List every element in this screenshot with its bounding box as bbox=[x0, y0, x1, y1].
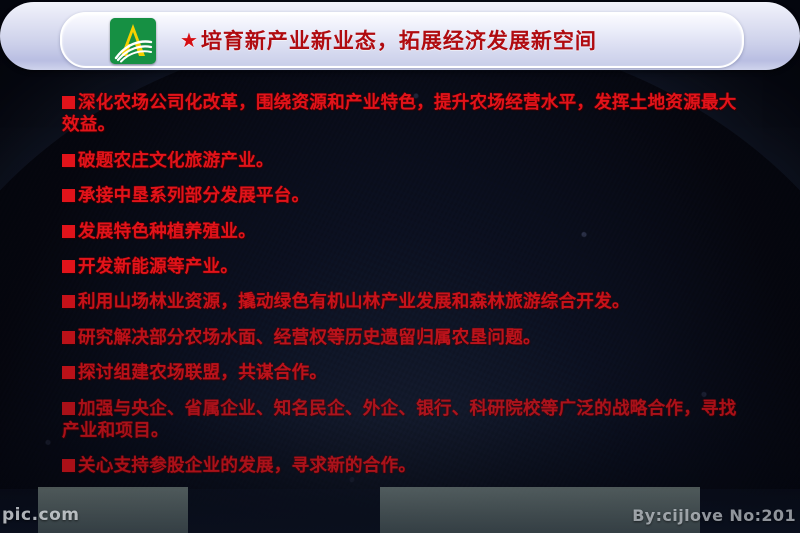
bullet-text-2: 破题农庄文化旅游产业。 bbox=[78, 151, 274, 171]
bullet-text-4: 发展特色种植养殖业。 bbox=[78, 222, 256, 242]
watermark-left: pic.com bbox=[2, 505, 80, 525]
bullet-text-10: 关心支持参股企业的发展，寻求新的合作。 bbox=[78, 456, 416, 476]
bullet-square-icon bbox=[62, 260, 75, 273]
bullet-square-icon bbox=[62, 366, 75, 379]
bullet-square-icon bbox=[62, 225, 75, 238]
bullet-square-icon bbox=[62, 154, 75, 167]
bullet-item-8: 探讨组建农场联盟，共谋合作。 bbox=[62, 362, 744, 384]
bullet-item-4: 发展特色种植养殖业。 bbox=[62, 221, 744, 243]
bullet-item-9: 加强与央企、省属企业、知名民企、外企、银行、科研院校等广泛的战略合作，寻找产业和… bbox=[62, 398, 744, 443]
bullet-item-7: 研究解决部分农场水面、经营权等历史遗留归属农垦问题。 bbox=[62, 327, 744, 349]
slide-title: ★ 培育新产业新业态，拓展经济发展新空间 bbox=[180, 14, 714, 66]
bullet-text-1: 深化农场公司化改革，围绕资源和产业特色，提升农场经营水平，发挥土地资源最大效益。 bbox=[62, 93, 737, 135]
star-icon: ★ bbox=[180, 28, 199, 52]
bullet-item-1: 深化农场公司化改革，围绕资源和产业特色，提升农场经营水平，发挥土地资源最大效益。 bbox=[62, 92, 744, 137]
bullet-square-icon bbox=[62, 459, 75, 472]
bullet-text-3: 承接中垦系列部分发展平台。 bbox=[78, 186, 309, 206]
title-bar: ★ 培育新产业新业态，拓展经济发展新空间 bbox=[0, 2, 800, 70]
watermark-right: By:cijlove No:201 bbox=[632, 506, 796, 525]
bullet-item-2: 破题农庄文化旅游产业。 bbox=[62, 150, 744, 172]
slide-canvas: ★ 培育新产业新业态，拓展经济发展新空间 深化农场公司化改革，围绕资源和产业特色… bbox=[0, 0, 800, 533]
bullet-item-6: 利用山场林业资源，撬动绿色有机山林产业发展和森林旅游综合开发。 bbox=[62, 291, 744, 313]
agriculture-logo bbox=[110, 18, 156, 64]
bullet-square-icon bbox=[62, 189, 75, 202]
bullet-square-icon bbox=[62, 96, 75, 109]
bullet-item-10: 关心支持参股企业的发展，寻求新的合作。 bbox=[62, 455, 744, 477]
bullet-list: 深化农场公司化改革，围绕资源和产业特色，提升农场经营水平，发挥土地资源最大效益。… bbox=[0, 78, 800, 518]
bullet-text-7: 研究解决部分农场水面、经营权等历史遗留归属农垦问题。 bbox=[78, 328, 541, 348]
bullet-square-icon bbox=[62, 331, 75, 344]
bullet-square-icon bbox=[62, 295, 75, 308]
title-pill: ★ 培育新产业新业态，拓展经济发展新空间 bbox=[60, 12, 744, 68]
bullet-square-icon bbox=[62, 402, 75, 415]
bullet-text-6: 利用山场林业资源，撬动绿色有机山林产业发展和森林旅游综合开发。 bbox=[78, 292, 630, 312]
bullet-text-8: 探讨组建农场联盟，共谋合作。 bbox=[78, 363, 327, 383]
bullet-item-3: 承接中垦系列部分发展平台。 bbox=[62, 185, 744, 207]
bullet-text-5: 开发新能源等产业。 bbox=[78, 257, 238, 277]
slide-title-text: 培育新产业新业态，拓展经济发展新空间 bbox=[201, 25, 597, 55]
bullet-text-9: 加强与央企、省属企业、知名民企、外企、银行、科研院校等广泛的战略合作，寻找产业和… bbox=[62, 399, 737, 441]
bullet-item-5: 开发新能源等产业。 bbox=[62, 256, 744, 278]
